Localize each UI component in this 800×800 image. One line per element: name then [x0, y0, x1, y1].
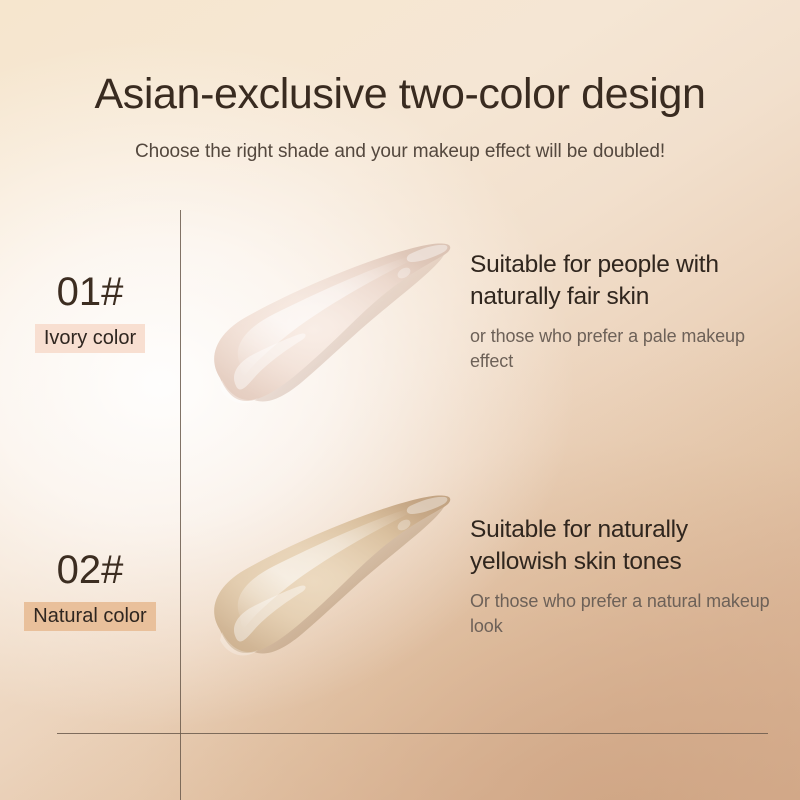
shade-subtext-01: or those who prefer a pale makeup effect: [470, 324, 790, 374]
page-title: Asian-exclusive two-color design: [0, 70, 800, 119]
foundation-swatch-natural: [196, 480, 466, 675]
shade-chip-natural: Natural color: [24, 602, 155, 631]
shade-subtext-02: Or those who prefer a natural makeup loo…: [470, 589, 790, 639]
page-subtitle: Choose the right shade and your makeup e…: [0, 141, 800, 163]
shade-copy-02: Suitable for naturally yellowish skin to…: [470, 514, 790, 638]
product-shade-infographic: Asian-exclusive two-color design Choose …: [0, 0, 800, 800]
shade-code-01: 01#: [0, 272, 180, 312]
shade-code-02: 02#: [0, 550, 180, 590]
shade-label-02: 02# Natural color: [0, 550, 180, 631]
shade-chip-ivory: Ivory color: [35, 324, 145, 353]
horizontal-divider: [57, 733, 768, 734]
foundation-swatch-ivory: [196, 228, 466, 423]
shade-copy-01: Suitable for people with naturally fair …: [470, 249, 790, 373]
shade-headline-01: Suitable for people with naturally fair …: [470, 249, 790, 313]
shade-headline-02: Suitable for naturally yellowish skin to…: [470, 514, 790, 578]
shade-label-01: 01# Ivory color: [0, 272, 180, 353]
vertical-divider: [180, 210, 181, 800]
